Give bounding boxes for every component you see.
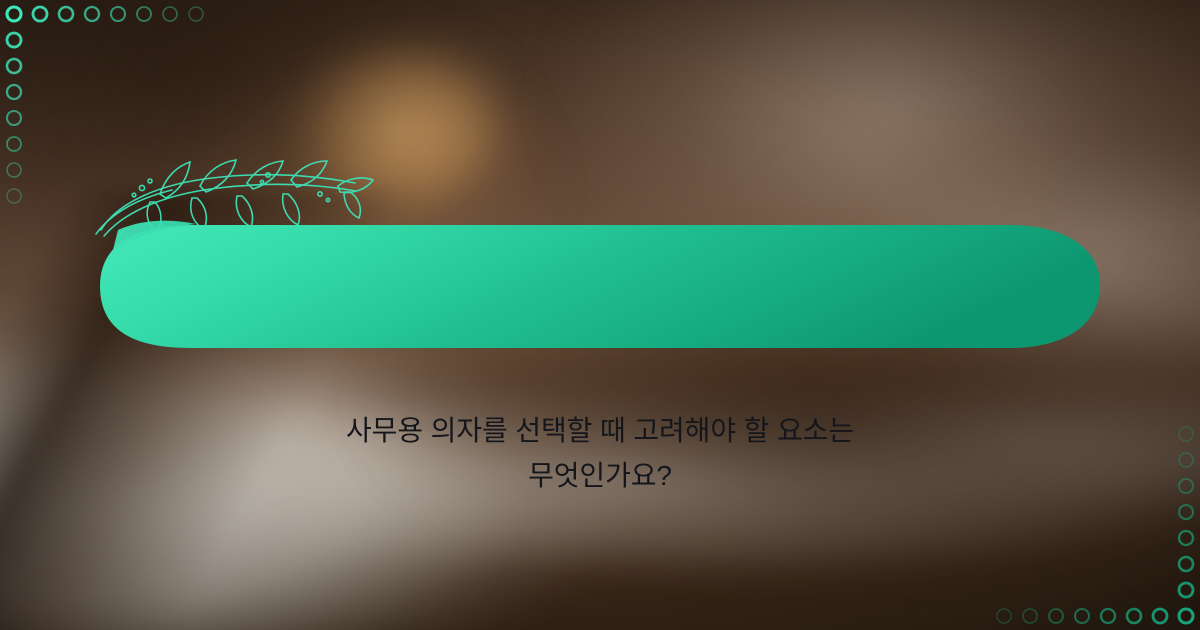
ornament-dot: [33, 7, 47, 21]
ornament-dot: [85, 7, 99, 21]
ornament-dot: [163, 7, 177, 21]
ornament-dot: [1179, 479, 1193, 493]
ornament-dot: [1179, 505, 1193, 519]
ornament-dot: [7, 59, 21, 73]
bubble-body: [100, 225, 1100, 348]
ornament-dot: [7, 33, 21, 47]
ornament-dot: [137, 7, 151, 21]
ornament-dot: [1101, 609, 1115, 623]
ornament-dot: [7, 111, 21, 125]
ornament-dot: [1179, 453, 1193, 467]
bubble-container: 사무용 의자를 선택할 때 고려해야 할 요소는 무엇인가요?: [0, 150, 1200, 420]
ornament-dot: [997, 609, 1011, 623]
ornament-dot: [1179, 609, 1193, 623]
ornament-dot: [7, 7, 21, 21]
quote-text: 사무용 의자를 선택할 때 고려해야 할 요소는 무엇인가요?: [150, 408, 1050, 499]
bubble-shape: [0, 150, 1200, 420]
ornament-dot: [1127, 609, 1141, 623]
ornament-dot: [189, 7, 203, 21]
ornament-dot: [59, 7, 73, 21]
ornament-dot: [1153, 609, 1167, 623]
ornament-dot: [1179, 557, 1193, 571]
ornament-dot: [1049, 609, 1063, 623]
ornament-dot: [1179, 531, 1193, 545]
quote-card: 사무용 의자를 선택할 때 고려해야 할 요소는 무엇인가요?: [0, 0, 1200, 630]
ornament-dot: [1179, 427, 1193, 441]
ornament-dot: [1023, 609, 1037, 623]
ornament-dot: [111, 7, 125, 21]
ornament-dot: [1075, 609, 1089, 623]
ornament-dot: [7, 137, 21, 151]
ornament-dot: [1179, 583, 1193, 597]
ornament-dot: [7, 85, 21, 99]
